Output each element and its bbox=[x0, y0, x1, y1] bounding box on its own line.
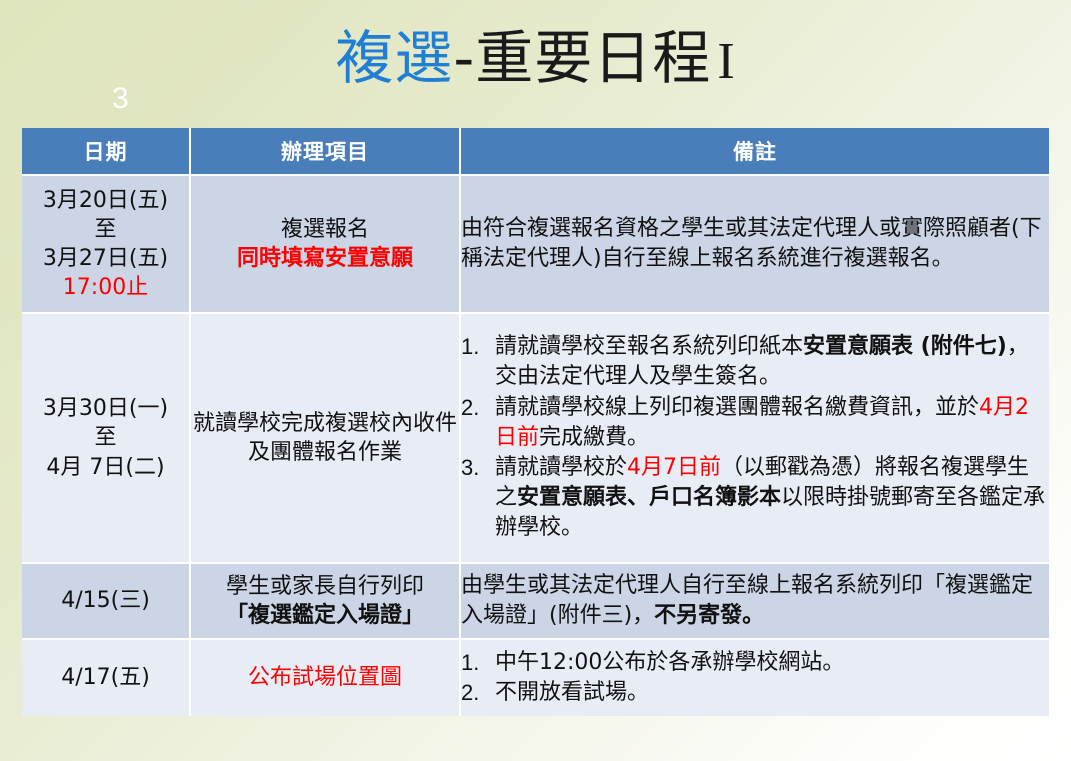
note-paragraph: 由學生或其法定代理人自行至線上報名系統列印「複選鑑定入場證」(附件三)，不另寄發… bbox=[461, 571, 1049, 631]
list-item: 2.請就讀學校線上列印複選團體報名繳費資訊，並於4月2日前完成繳費。 bbox=[461, 393, 1049, 453]
note-list: 1.中午12:00公布於各承辦學校網站。 2.不開放看試場。 bbox=[461, 648, 1049, 708]
list-marker: 1. bbox=[461, 648, 491, 678]
date-line: 至 bbox=[22, 215, 189, 244]
note-segment: 請就讀學校於 bbox=[495, 455, 627, 480]
item-text-red: 公布試場位置圖 bbox=[248, 665, 402, 690]
list-item: 2.不開放看試場。 bbox=[461, 678, 1049, 708]
cell-date: 3月20日(五) 至 3月27日(五) 17:00止 bbox=[22, 176, 191, 314]
date-line: 3月27日(五) bbox=[22, 244, 189, 273]
cell-note: 由符合複選報名資格之學生或其法定代理人或實際照顧者(下稱法定代理人)自行至線上報… bbox=[461, 176, 1049, 314]
note-segment: 請就讀學校至報名系統列印紙本 bbox=[495, 334, 803, 359]
title-part-numeral: I bbox=[711, 33, 735, 90]
cell-note: 1.請就讀學校至報名系統列印紙本安置意願表 (附件七)，交由法定代理人及學生簽名… bbox=[461, 314, 1049, 564]
note-segment: 中午12:00公布於各承辦學校網站。 bbox=[495, 650, 844, 675]
date-line-deadline: 17:00止 bbox=[22, 273, 189, 302]
cell-item: 學生或家長自行列印 「複選鑑定入場證」 bbox=[191, 564, 461, 640]
list-marker: 2. bbox=[461, 393, 491, 423]
note-paragraph: 由符合複選報名資格之學生或其法定代理人或實際照顧者(下稱法定代理人)自行至線上報… bbox=[461, 214, 1049, 274]
list-marker: 3. bbox=[461, 453, 491, 483]
title-part-dark: -重要日程 bbox=[453, 24, 711, 92]
cell-item: 複選報名 同時填寫安置意願 bbox=[191, 176, 461, 314]
date-line: 3月20日(五) bbox=[22, 186, 189, 215]
item-line-highlight: 同時填寫安置意願 bbox=[191, 244, 459, 273]
table-row: 3月30日(一) 至 4月 7日(二) 就讀學校完成複選校內收件及團體報名作業 … bbox=[22, 314, 1049, 564]
cell-item: 就讀學校完成複選校內收件及團體報名作業 bbox=[191, 314, 461, 564]
note-segment-bold: 不另寄發。 bbox=[654, 603, 764, 628]
note-segment: 完成繳費。 bbox=[539, 425, 649, 450]
item-line: 複選報名 bbox=[191, 215, 459, 244]
note-segment-bold: 安置意願表、戶口名簿影本 bbox=[517, 485, 781, 510]
cell-date: 4/15(三) bbox=[22, 564, 191, 640]
date-line: 3月30日(一) bbox=[22, 394, 189, 423]
column-header-note: 備註 bbox=[461, 128, 1049, 176]
page-title: 複選-重要日程I bbox=[0, 26, 1071, 91]
schedule-table: 日期 辦理項目 備註 3月20日(五) 至 3月27日(五) 17:00止 複選… bbox=[22, 128, 1049, 716]
column-header-item: 辦理項目 bbox=[191, 128, 461, 176]
note-segment: 請就讀學校線上列印複選團體報名繳費資訊，並於 bbox=[495, 395, 979, 420]
date-line: 4月 7日(二) bbox=[22, 453, 189, 482]
date-line: 4/15(三) bbox=[22, 586, 189, 615]
item-line: 學生或家長自行列印 bbox=[191, 572, 459, 601]
slide-canvas: 3 複選-重要日程I 日期 辦理項目 備註 3月20日(五) 至 3月27日(五… bbox=[0, 0, 1071, 761]
cell-date: 4/17(五) bbox=[22, 640, 191, 716]
note-segment: 不開放看試場。 bbox=[495, 680, 649, 705]
table-row: 4/15(三) 學生或家長自行列印 「複選鑑定入場證」 由學生或其法定代理人自行… bbox=[22, 564, 1049, 640]
date-line: 至 bbox=[22, 423, 189, 452]
title-part-blue: 複選 bbox=[335, 24, 453, 92]
table-header-row: 日期 辦理項目 備註 bbox=[22, 128, 1049, 176]
note-segment-red: 4月7日前 bbox=[627, 455, 721, 480]
cell-item: 公布試場位置圖 bbox=[191, 640, 461, 716]
list-item: 3.請就讀學校於4月7日前（以郵戳為憑）將報名複選學生之安置意願表、戶口名簿影本… bbox=[461, 453, 1049, 543]
cell-note: 1.中午12:00公布於各承辦學校網站。 2.不開放看試場。 bbox=[461, 640, 1049, 716]
list-item: 1.請就讀學校至報名系統列印紙本安置意願表 (附件七)，交由法定代理人及學生簽名… bbox=[461, 332, 1049, 392]
note-segment-bold: 安置意願表 (附件七) bbox=[803, 334, 1007, 359]
cell-note: 由學生或其法定代理人自行至線上報名系統列印「複選鑑定入場證」(附件三)，不另寄發… bbox=[461, 564, 1049, 640]
table-row: 4/17(五) 公布試場位置圖 1.中午12:00公布於各承辦學校網站。 2.不… bbox=[22, 640, 1049, 716]
item-line-bold: 「複選鑑定入場證」 bbox=[191, 601, 459, 630]
cell-date: 3月30日(一) 至 4月 7日(二) bbox=[22, 314, 191, 564]
item-text: 就讀學校完成複選校內收件及團體報名作業 bbox=[193, 411, 457, 465]
list-item: 1.中午12:00公布於各承辦學校網站。 bbox=[461, 648, 1049, 678]
note-list: 1.請就讀學校至報名系統列印紙本安置意願表 (附件七)，交由法定代理人及學生簽名… bbox=[461, 332, 1049, 543]
table-row: 3月20日(五) 至 3月27日(五) 17:00止 複選報名 同時填寫安置意願… bbox=[22, 176, 1049, 314]
list-marker: 2. bbox=[461, 678, 491, 708]
date-line: 4/17(五) bbox=[22, 663, 189, 692]
column-header-date: 日期 bbox=[22, 128, 191, 176]
list-marker: 1. bbox=[461, 332, 491, 362]
